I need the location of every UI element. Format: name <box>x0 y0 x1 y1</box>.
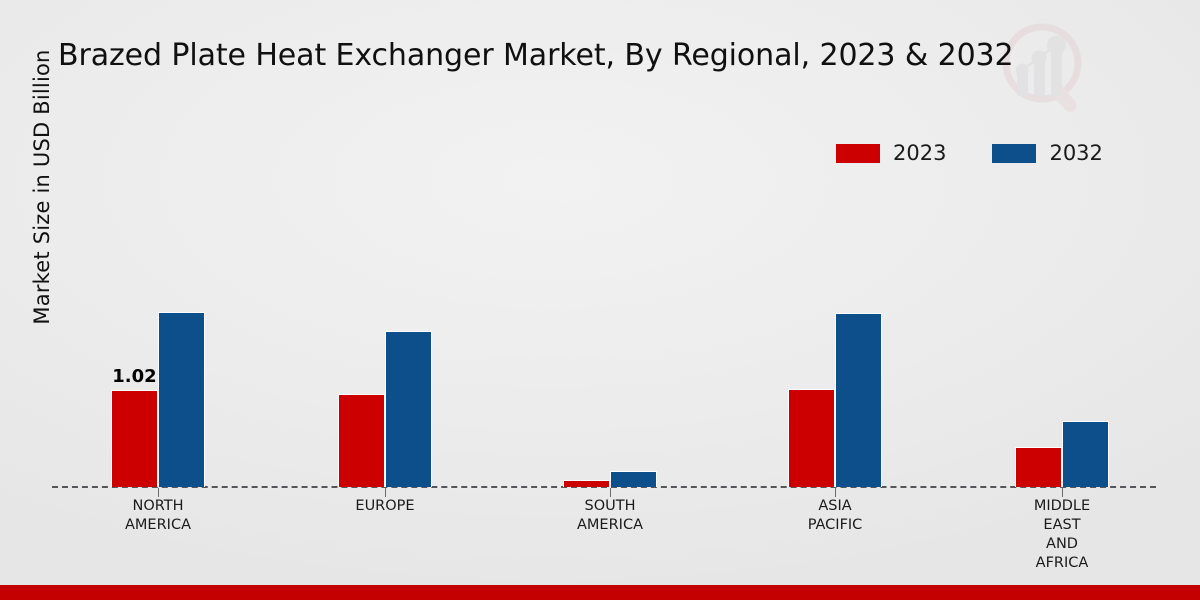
x-axis-category-label: ASIA PACIFIC <box>755 497 915 535</box>
bar-2023-asia-pacific[interactable] <box>788 389 835 487</box>
x-axis-tick <box>1062 488 1063 497</box>
x-axis-tick <box>835 488 836 497</box>
footer-accent-bar <box>0 585 1200 600</box>
bar-2023-south-america[interactable] <box>563 480 610 487</box>
x-axis-category-label: NORTH AMERICA <box>78 497 238 535</box>
bar-2032-asia-pacific[interactable] <box>835 313 882 487</box>
x-axis-category-label: SOUTH AMERICA <box>530 497 690 535</box>
x-axis-tick <box>158 488 159 497</box>
bar-2032-middle-east-and-africa[interactable] <box>1062 421 1109 487</box>
bar-2023-europe[interactable] <box>338 394 385 487</box>
bar-2032-europe[interactable] <box>385 331 432 487</box>
x-axis-tick <box>385 488 386 497</box>
x-axis-category-label: EUROPE <box>305 497 465 516</box>
x-axis-tick <box>610 488 611 497</box>
bar-value-label: 1.02 <box>111 366 158 387</box>
bar-2032-south-america[interactable] <box>610 471 657 487</box>
x-axis-category-label: MIDDLE EAST AND AFRICA <box>982 497 1142 573</box>
chart-figure: Brazed Plate Heat Exchanger Market, By R… <box>0 0 1200 600</box>
bar-2023-middle-east-and-africa[interactable] <box>1015 447 1062 487</box>
bar-2032-north-america[interactable] <box>158 312 205 487</box>
plot-area: 1.02NORTH AMERICAEUROPESOUTH AMERICAASIA… <box>0 0 1200 600</box>
bar-2023-north-america[interactable] <box>111 390 158 487</box>
